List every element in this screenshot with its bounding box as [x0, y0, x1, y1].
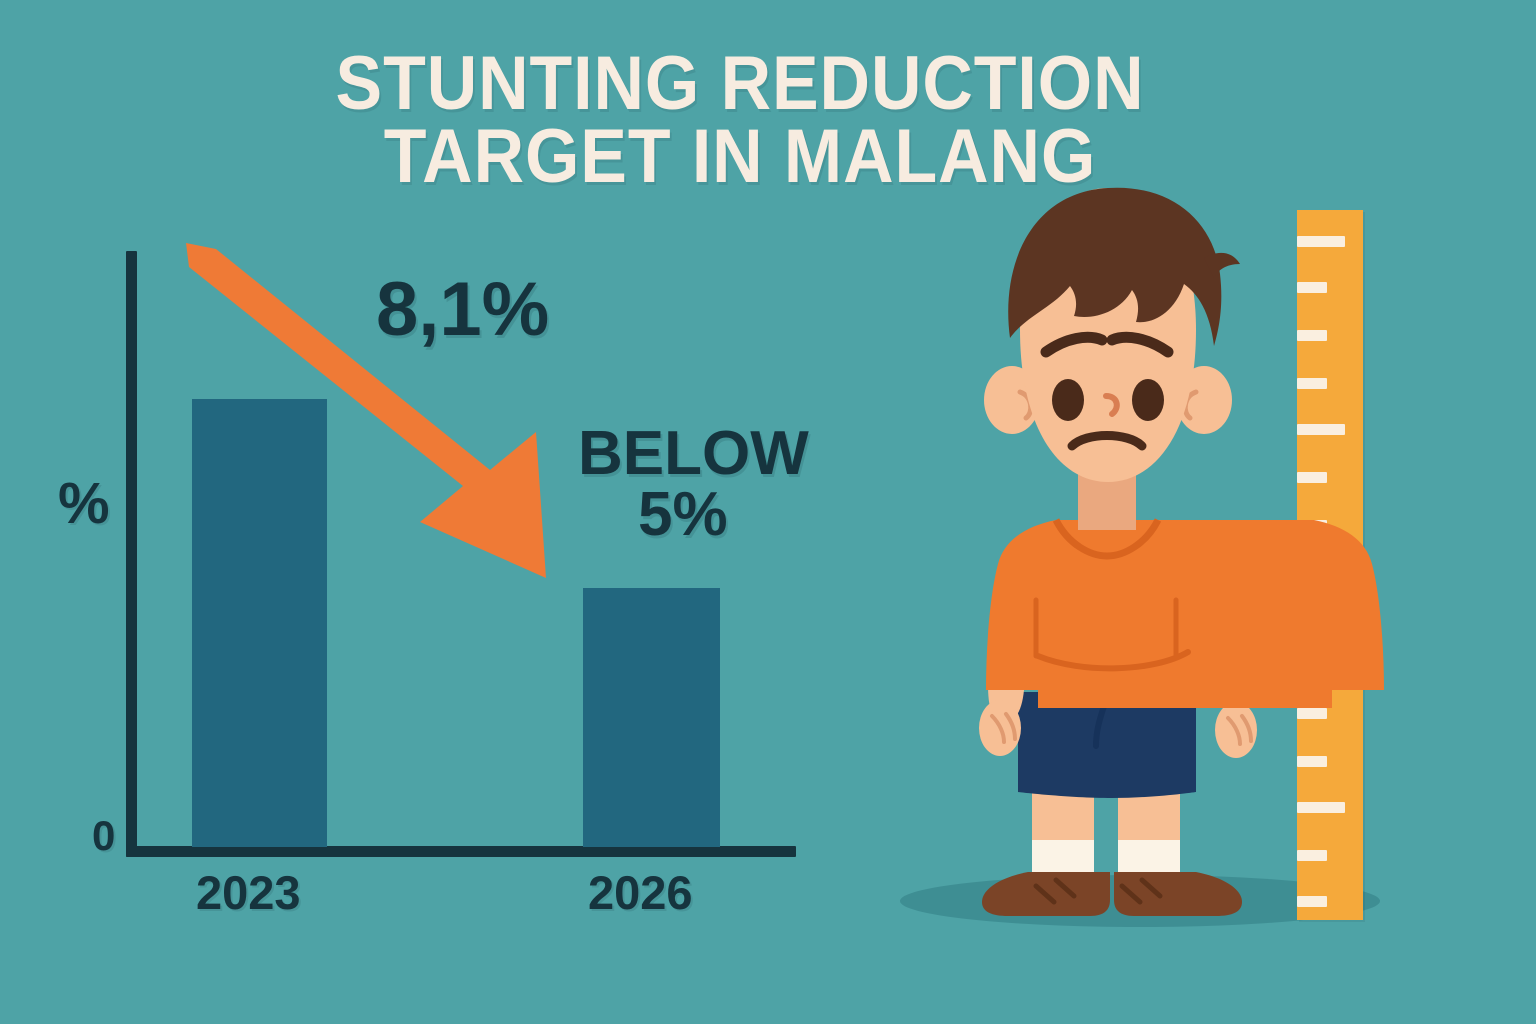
target-word-below: BELOW	[578, 419, 809, 488]
y-axis-line	[126, 251, 137, 857]
bar-2023	[192, 399, 327, 847]
bar-chart: % 0 2023 2026 8,1% BELOW 5%	[0, 0, 860, 1024]
sad-child-figure-icon	[860, 0, 1536, 1024]
target-value-5pct: 5%	[578, 485, 809, 546]
x-axis-line	[126, 846, 796, 857]
axis-origin-label: 0	[92, 812, 115, 860]
x-tick-label-2023: 2023	[196, 865, 301, 920]
y-axis-label: %	[58, 470, 110, 537]
infographic-poster: STUNTING REDUCTION TARGET IN MALANG % 0 …	[0, 0, 1536, 1024]
value-label-2023: 8,1%	[376, 272, 549, 348]
value-label-2026: BELOW 5%	[578, 424, 809, 546]
x-tick-label-2026: 2026	[588, 865, 693, 920]
bar-2026	[583, 588, 720, 847]
illustration-panel	[860, 0, 1536, 1024]
